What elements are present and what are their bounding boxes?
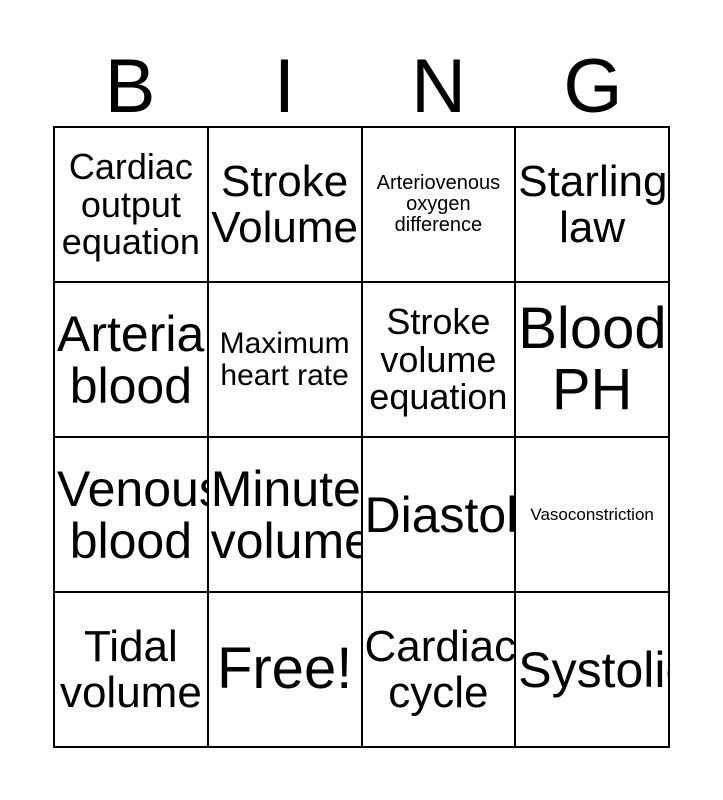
bingo-cell-label: Minute volume xyxy=(211,463,359,567)
bingo-cell-r3c3[interactable]: Diastolic xyxy=(363,438,517,593)
bingo-cell-r1c1[interactable]: Cardiac output equation xyxy=(55,128,209,283)
bingo-cell-r2c1[interactable]: Arterial blood xyxy=(55,283,209,438)
bingo-cell-label: Vasoconstriction xyxy=(518,506,666,524)
bingo-cell-label: Cardiac cycle xyxy=(365,624,513,716)
bingo-cell-r1c4[interactable]: Starling's law xyxy=(516,128,670,283)
bingo-header-letter-3: N xyxy=(362,51,516,123)
bingo-cell-r3c1[interactable]: Venous blood xyxy=(55,438,209,593)
bingo-cell-label: Venous blood xyxy=(57,463,205,567)
bingo-cell-label: Diastolic xyxy=(365,489,513,541)
bingo-cell-r2c4[interactable]: Blood PH xyxy=(516,283,670,438)
bingo-header-letter-2: I xyxy=(207,51,361,123)
bingo-cell-r2c2[interactable]: Maximum heart rate xyxy=(209,283,363,438)
bingo-cell-free[interactable]: Free! xyxy=(209,593,363,748)
bingo-cell-r4c1[interactable]: Tidal volume xyxy=(55,593,209,748)
bingo-cell-label: Tidal volume xyxy=(57,624,205,716)
bingo-cell-label: Systolic xyxy=(518,644,666,696)
bingo-card: B I N G Cardiac output equation Stroke V… xyxy=(0,0,723,800)
bingo-cell-r1c2[interactable]: Stroke Volume xyxy=(209,128,363,283)
bingo-cell-label: Maximum heart rate xyxy=(211,328,359,390)
bingo-cell-label: Arteriovenous oxygen difference xyxy=(365,173,513,235)
bingo-cell-label: Starling's law xyxy=(518,159,666,251)
bingo-free-label: Free! xyxy=(211,639,359,699)
bingo-cell-label: Stroke volume equation xyxy=(365,303,513,415)
bingo-cell-r3c2[interactable]: Minute volume xyxy=(209,438,363,593)
bingo-cell-label: Arterial blood xyxy=(57,308,205,412)
bingo-grid: Cardiac output equation Stroke Volume Ar… xyxy=(53,126,670,748)
bingo-header-letter-4: G xyxy=(516,51,670,123)
bingo-cell-r4c4[interactable]: Systolic xyxy=(516,593,670,748)
bingo-cell-r2c3[interactable]: Stroke volume equation xyxy=(363,283,517,438)
bingo-cell-label: Stroke Volume xyxy=(211,159,359,251)
bingo-cell-label: Blood PH xyxy=(518,299,666,420)
bingo-header: B I N G xyxy=(53,45,670,123)
bingo-cell-label: Cardiac output equation xyxy=(57,148,205,260)
bingo-cell-r1c3[interactable]: Arteriovenous oxygen difference xyxy=(363,128,517,283)
bingo-cell-r3c4[interactable]: Vasoconstriction xyxy=(516,438,670,593)
bingo-cell-r4c3[interactable]: Cardiac cycle xyxy=(363,593,517,748)
bingo-header-letter-1: B xyxy=(53,51,207,123)
